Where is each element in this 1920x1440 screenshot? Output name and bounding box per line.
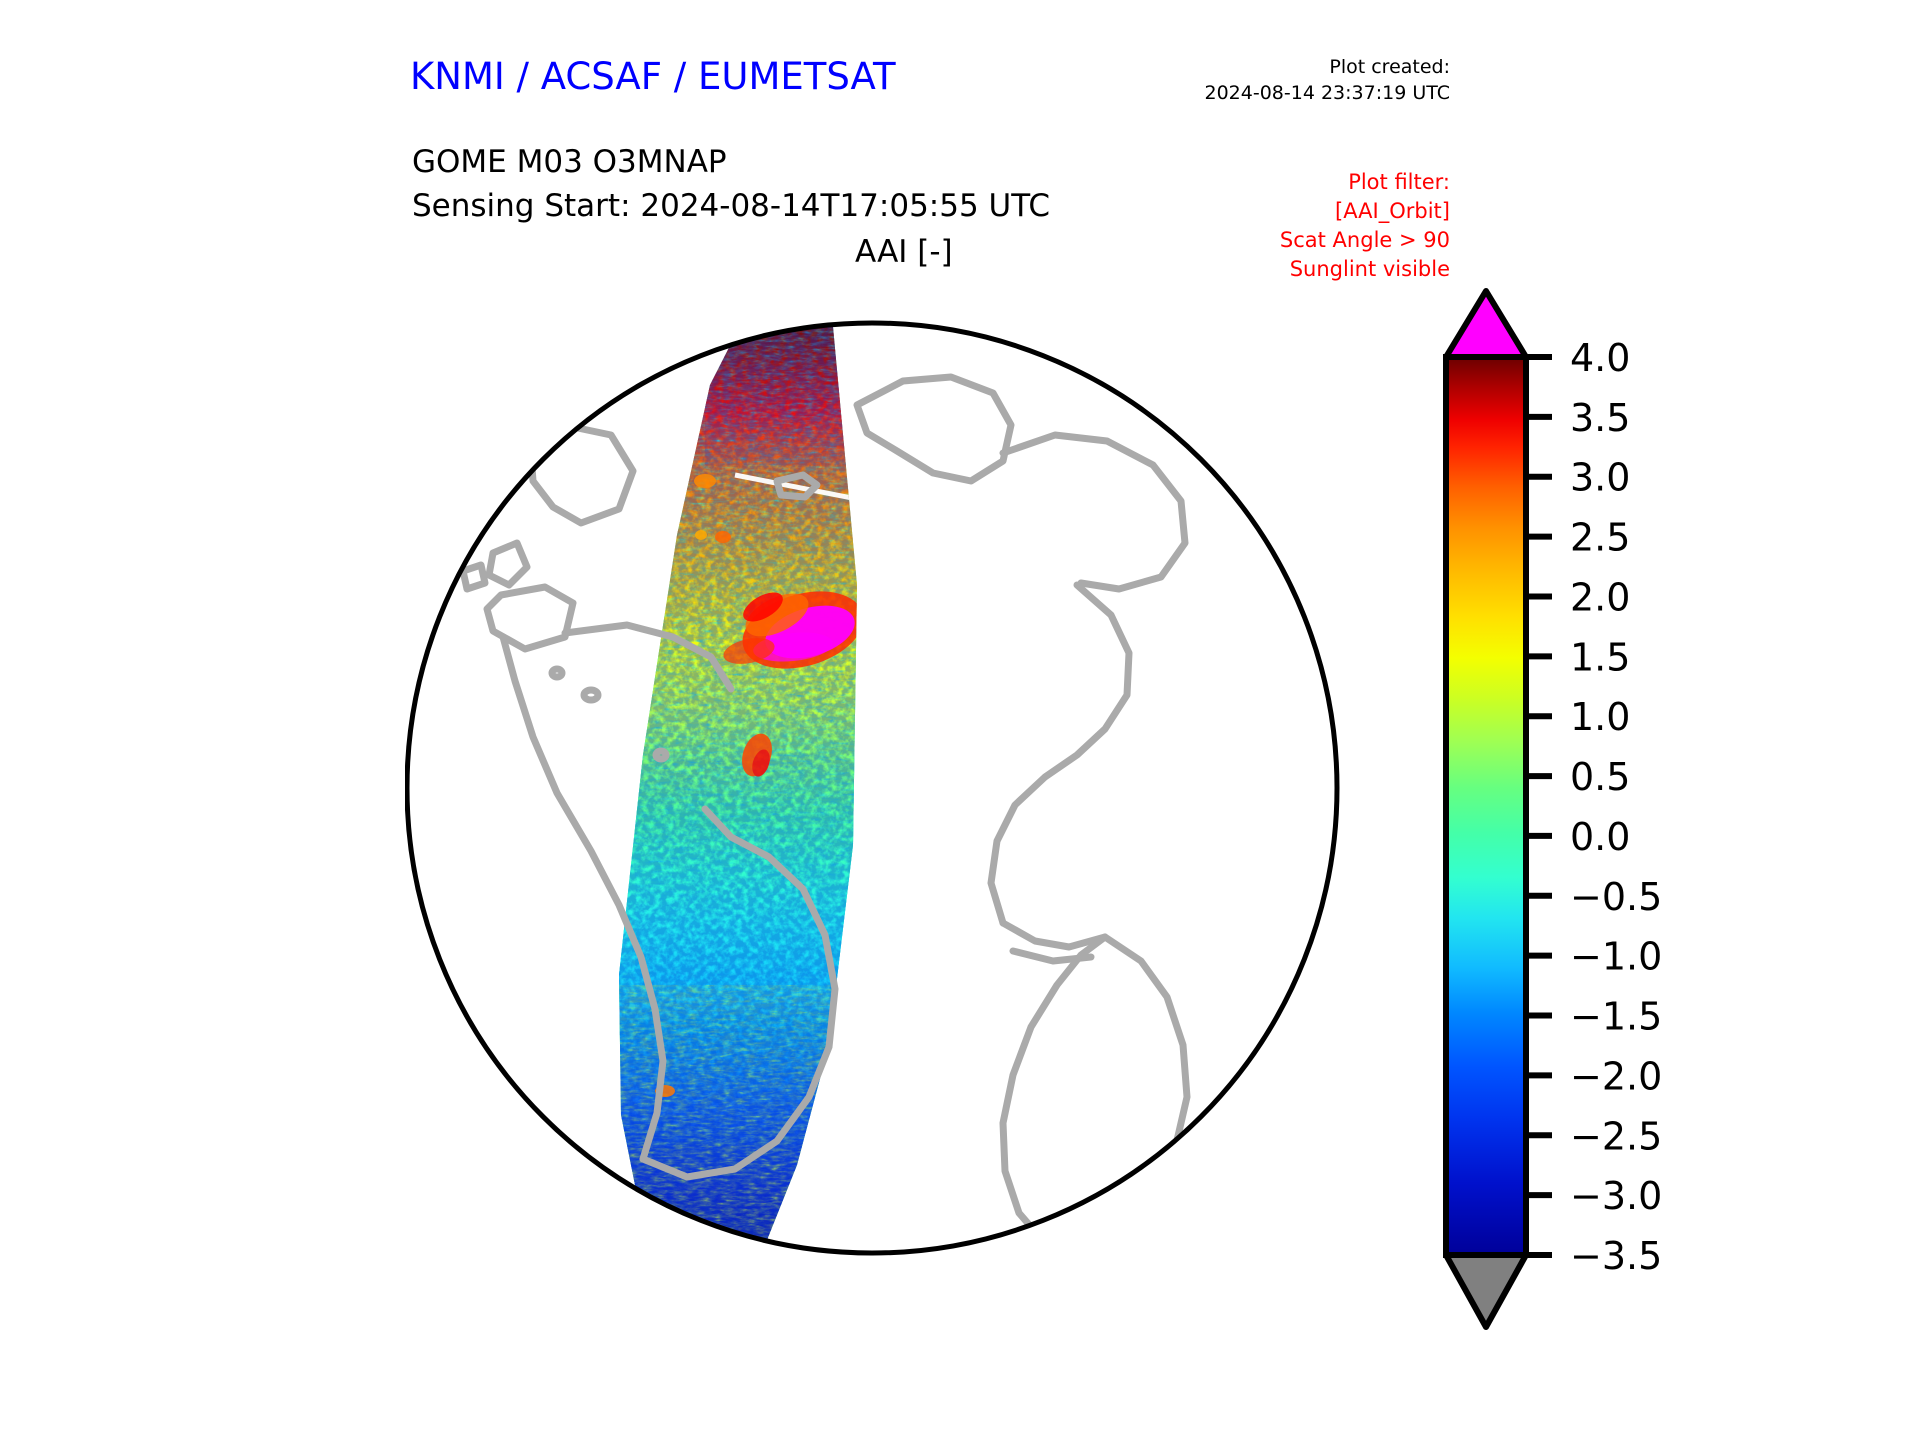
globe-map [405, 285, 1340, 1290]
colorbar-under-range-arrow [1446, 1255, 1526, 1327]
colorbar-tick-label: 3.0 [1570, 456, 1630, 500]
colorbar-tick-label: 3.5 [1570, 396, 1630, 440]
colorbar-gradient [1446, 357, 1526, 1255]
colorbar-svg: 4.03.53.02.52.01.51.00.50.0−0.5−1.0−1.5−… [1440, 285, 1860, 1345]
organisation-title: KNMI / ACSAF / EUMETSAT [410, 55, 896, 98]
plot-created-label: Plot created: [1205, 55, 1451, 81]
colorbar-tick-label: −1.5 [1570, 995, 1662, 1039]
colorbar-tick-label: −3.5 [1570, 1234, 1662, 1278]
sensing-start: Sensing Start: 2024-08-14T17:05:55 UTC [412, 184, 1050, 228]
plot-filter-title: Plot filter: [1280, 168, 1450, 197]
colorbar-tick-label: −2.5 [1570, 1114, 1662, 1158]
plot-filter-line-3: Sunglint visible [1280, 255, 1450, 284]
swath-scanline-fringe-north [723, 299, 857, 317]
plot-page: KNMI / ACSAF / EUMETSAT Plot created: 20… [0, 0, 1920, 1440]
colorbar: 4.03.53.02.52.01.51.00.50.0−0.5−1.0−1.5−… [1440, 285, 1860, 1345]
plot-created-timestamp: 2024-08-14 23:37:19 UTC [1205, 81, 1451, 107]
colorbar-tick-label: 0.5 [1570, 755, 1630, 799]
colorbar-tick-label: 4.0 [1570, 336, 1630, 380]
colorbar-tick-label: −2.0 [1570, 1054, 1662, 1098]
product-name: GOME M03 O3MNAP [412, 140, 1050, 184]
plot-filter-block: Plot filter: [AAI_Orbit] Scat Angle > 90… [1280, 168, 1450, 284]
plot-filter-line-1: [AAI_Orbit] [1280, 197, 1450, 226]
product-info-block: GOME M03 O3MNAP Sensing Start: 2024-08-1… [412, 140, 1050, 228]
colorbar-tick-label: 1.0 [1570, 695, 1630, 739]
colorbar-over-range-arrow [1446, 291, 1526, 357]
plot-filter-line-2: Scat Angle > 90 [1280, 226, 1450, 255]
swath-scanline-fringe [657, 1289, 853, 1290]
colorbar-tick-label: 1.5 [1570, 635, 1630, 679]
globe-disc [407, 323, 1337, 1253]
colorbar-tick-label: −3.0 [1570, 1174, 1662, 1218]
colorbar-ticks: 4.03.53.02.52.01.51.00.50.0−0.5−1.0−1.5−… [1526, 336, 1662, 1278]
globe-svg [405, 285, 1340, 1290]
colorbar-tick-label: 2.0 [1570, 575, 1630, 619]
colorbar-tick-label: −1.0 [1570, 935, 1662, 979]
plot-created-block: Plot created: 2024-08-14 23:37:19 UTC [1205, 55, 1451, 106]
colorbar-tick-label: −0.5 [1570, 875, 1662, 919]
colorbar-tick-label: 0.0 [1570, 815, 1630, 859]
colorbar-tick-label: 2.5 [1570, 516, 1630, 560]
quantity-title: AAI [-] [855, 234, 953, 270]
